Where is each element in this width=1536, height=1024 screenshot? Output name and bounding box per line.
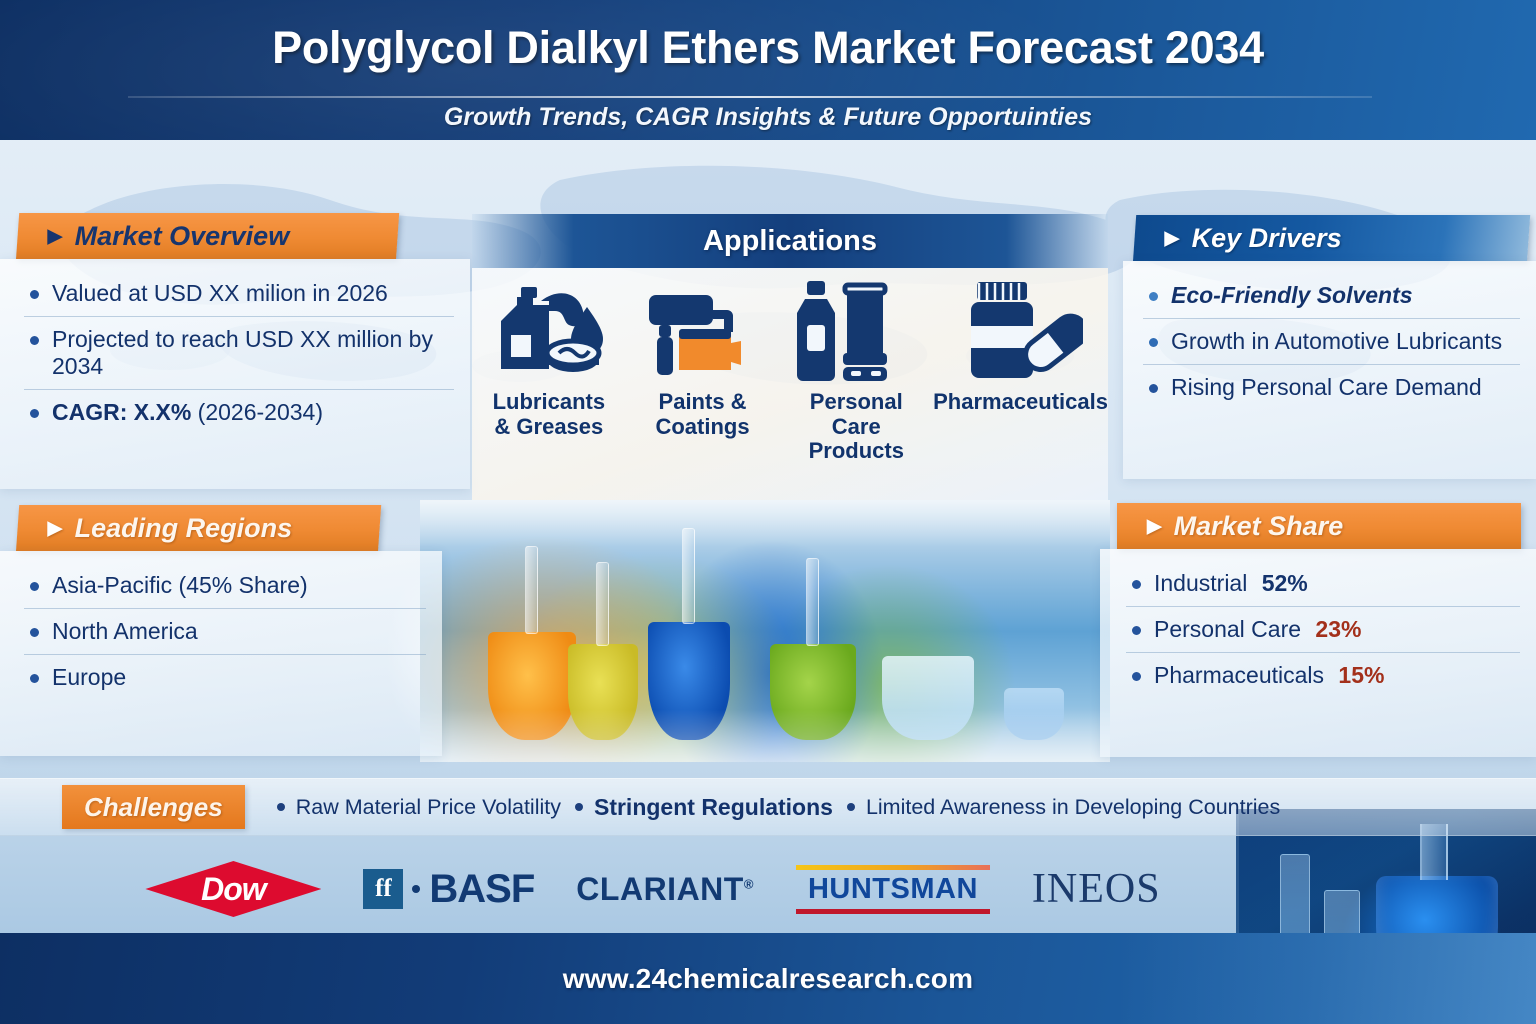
bullet-dot-icon (30, 582, 39, 591)
list-item: Asia-Pacific (45% Share) (24, 563, 426, 609)
list-item: Projected to reach USD XX million by 203… (24, 317, 454, 390)
application-label: PersonalCareProducts (809, 390, 904, 464)
applications-header: Applications (472, 214, 1108, 268)
market-overview-item-1: Projected to reach USD XX million by 203… (52, 326, 450, 380)
logo-dow: Dow (145, 861, 321, 917)
bullet-dot-icon (1132, 580, 1141, 589)
market-share-label: Industrial (1154, 570, 1247, 596)
title-divider (128, 96, 1372, 98)
infographic-root: Polyglycol Dialkyl Ethers Market Forecas… (0, 0, 1536, 1024)
bullet-dot-icon (277, 803, 285, 811)
key-drivers-panel: Eco-Friendly Solvents Growth in Automoti… (1123, 261, 1536, 479)
challenges-banner-label: Challenges (62, 785, 245, 829)
page-title: Polyglycol Dialkyl Ethers Market Forecas… (0, 22, 1536, 74)
market-share-panel: Industrial 52% Personal Care 23% Pharmac… (1100, 549, 1536, 757)
bullet-dot-icon (847, 803, 855, 811)
huntsman-logo-text: HUNTSMAN (796, 870, 990, 909)
company-logos-row: Dow ff BASF CLARIANT® HUNTSMAN INEOS (0, 845, 1536, 933)
bullet-dot-icon (30, 674, 39, 683)
bullet-dot-icon (30, 336, 39, 345)
personal-care-bottles-icon (795, 278, 917, 386)
list-item: Valued at USD XX milion in 2026 (24, 271, 454, 317)
list-item: Growth in Automotive Lubricants (1143, 319, 1520, 365)
bullet-dot-icon (1149, 384, 1158, 393)
market-share-value: 52% (1262, 570, 1308, 596)
application-label: Lubricants& Greases (493, 390, 605, 439)
list-item: Pharmaceuticals 15% (1126, 653, 1520, 698)
cagr-value: CAGR: X.X% (52, 399, 191, 425)
key-drivers-banner-label: Key Drivers (1191, 223, 1341, 254)
market-share-banner: ▶ Market Share (1117, 503, 1521, 549)
leading-regions-item-1: North America (52, 618, 422, 645)
logo-clariant: CLARIANT® (576, 871, 754, 908)
page-header: Polyglycol Dialkyl Ethers Market Forecas… (0, 0, 1536, 140)
list-item: Europe (24, 655, 426, 700)
application-pharmaceuticals: Pharmaceuticals (933, 268, 1108, 500)
leading-regions-banner-label: Leading Regions (74, 513, 292, 544)
market-overview-panel: Valued at USD XX milion in 2026 Projecte… (0, 259, 470, 489)
market-share-value: 23% (1315, 616, 1361, 642)
footer-url[interactable]: www.24chemicalresearch.com (563, 963, 973, 995)
market-share-banner-label: Market Share (1174, 511, 1344, 542)
leading-regions-panel: Asia-Pacific (45% Share) North America E… (0, 551, 442, 756)
challenge-text: Limited Awareness in Developing Countrie… (866, 795, 1280, 820)
basf-dot-icon (412, 885, 420, 893)
dow-logo-text: Dow (201, 871, 266, 908)
bullet-dot-icon (1149, 292, 1158, 301)
application-personal-care: PersonalCareProducts (779, 268, 933, 500)
key-drivers-banner: ▶ Key Drivers (1133, 215, 1530, 261)
application-label: Paints &Coatings (655, 390, 749, 439)
bullet-dot-icon (30, 409, 39, 418)
market-share-label: Personal Care (1154, 616, 1301, 642)
logo-huntsman: HUNTSMAN (796, 865, 990, 914)
laboratory-photo (420, 500, 1110, 762)
logo-ineos: INEOS (1032, 865, 1161, 913)
list-item: Industrial 52% (1126, 561, 1520, 607)
clariant-logo-text: CLARIANT (576, 871, 744, 907)
bullet-dot-icon (1149, 338, 1158, 347)
challenges-bar: Challenges Raw Material Price Volatility… (0, 778, 1536, 836)
key-drivers-item-1: Growth in Automotive Lubricants (1171, 328, 1516, 355)
bullet-dot-icon (575, 803, 583, 811)
application-paints: Paints &Coatings (626, 268, 780, 500)
logo-basf: ff BASF (363, 867, 534, 912)
huntsman-bottom-rule (796, 909, 990, 914)
registered-mark-icon: ® (744, 876, 754, 891)
market-overview-banner-label: Market Overview (74, 221, 289, 252)
market-overview-item-0: Valued at USD XX milion in 2026 (52, 280, 450, 307)
list-item: CAGR: X.X% (2026-2034) (24, 390, 454, 435)
challenge-item-0: Raw Material Price Volatility (263, 795, 561, 820)
ineos-logo-text: INEOS (1032, 865, 1161, 913)
challenge-text: Raw Material Price Volatility (296, 795, 561, 820)
leading-regions-item-0: Asia-Pacific (45% Share) (52, 572, 422, 599)
leading-regions-banner: ▶ Leading Regions (16, 505, 381, 551)
basf-mark-icon: ff (363, 869, 403, 909)
bullet-dot-icon (1132, 626, 1141, 635)
cagr-range: (2026-2034) (191, 399, 323, 425)
triangle-marker-icon: ▶ (1165, 229, 1180, 248)
paint-roller-icon (643, 278, 763, 386)
key-drivers-item-2: Rising Personal Care Demand (1171, 374, 1516, 401)
bullet-dot-icon (30, 290, 39, 299)
oil-can-icon (487, 278, 611, 386)
list-item: Rising Personal Care Demand (1143, 365, 1520, 410)
application-label: Pharmaceuticals (933, 390, 1108, 415)
bullet-dot-icon (1132, 672, 1141, 681)
key-drivers-item-0: Eco-Friendly Solvents (1171, 282, 1516, 309)
challenge-text: Stringent Regulations (594, 794, 833, 821)
pill-bottle-icon (959, 278, 1083, 386)
triangle-marker-icon: ▶ (1147, 517, 1162, 536)
basf-logo-text: BASF (429, 867, 534, 912)
bullet-dot-icon (30, 628, 39, 637)
market-overview-banner: ▶ Market Overview (16, 213, 399, 259)
market-share-label: Pharmaceuticals (1154, 662, 1324, 688)
applications-panel: Lubricants& Greases Paints &Coatings (472, 268, 1108, 500)
market-share-value: 15% (1338, 662, 1384, 688)
list-item: North America (24, 609, 426, 655)
application-lubricants: Lubricants& Greases (472, 268, 626, 500)
challenge-item-2: Limited Awareness in Developing Countrie… (833, 795, 1280, 820)
page-footer: www.24chemicalresearch.com (0, 933, 1536, 1024)
page-subtitle: Growth Trends, CAGR Insights & Future Op… (0, 103, 1536, 132)
challenge-item-1: Stringent Regulations (561, 794, 833, 821)
triangle-marker-icon: ▶ (48, 227, 63, 246)
triangle-marker-icon: ▶ (48, 519, 63, 538)
applications-title: Applications (703, 225, 877, 258)
leading-regions-item-2: Europe (52, 664, 422, 691)
list-item: Eco-Friendly Solvents (1143, 273, 1520, 319)
list-item: Personal Care 23% (1126, 607, 1520, 653)
